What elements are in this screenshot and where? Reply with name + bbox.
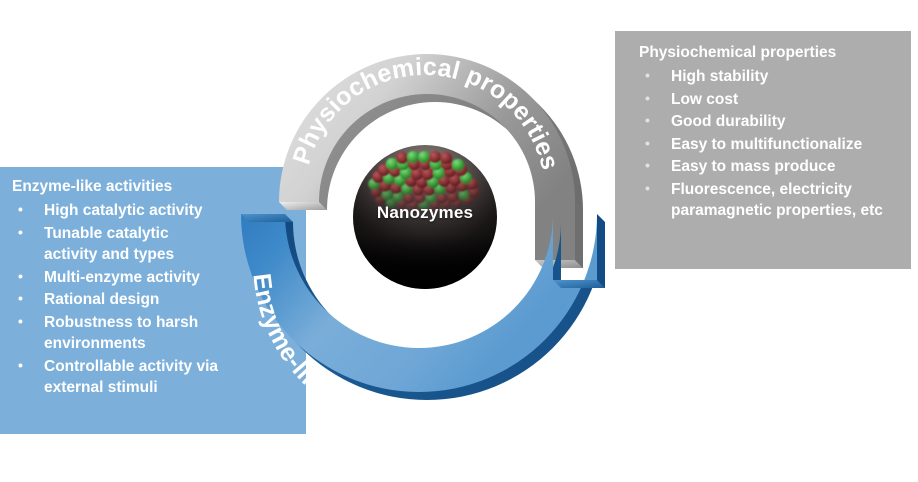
nanoparticle-illustration bbox=[350, 142, 500, 292]
nanoparticle-cluster bbox=[350, 151, 500, 292]
blue-ribbon-end-cap bbox=[553, 280, 605, 288]
gray-ribbon-end-side bbox=[575, 202, 583, 268]
blue-ribbon-start-cap bbox=[241, 214, 293, 222]
gray-ribbon-start-cap bbox=[279, 202, 327, 210]
blue-ribbon-end-side bbox=[597, 214, 605, 288]
nanozyme-concept-diagram: Enzyme-like activities High catalytic ac… bbox=[0, 0, 918, 482]
nanozyme-sphere: Nanozymes bbox=[350, 142, 500, 292]
